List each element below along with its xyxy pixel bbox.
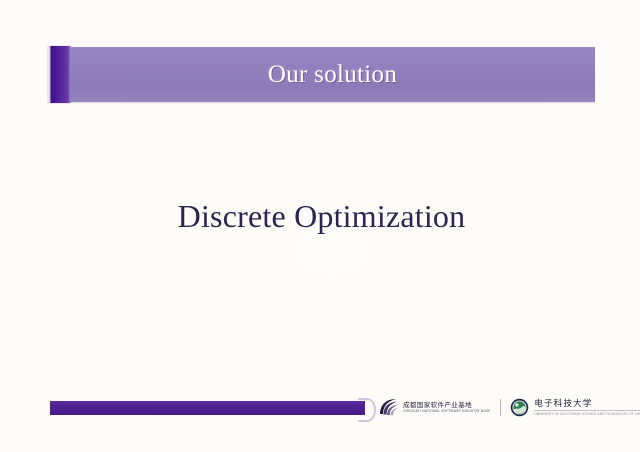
- footer-accent-bar: [50, 401, 365, 415]
- software-base-en: CHENGDU NATIONAL SOFTWARE INDUSTRY BASE: [403, 409, 490, 413]
- slide-body-text: Discrete Optimization: [48, 198, 595, 235]
- presentation-slide: Our solution Discrete Optimization 成都国家软…: [0, 0, 640, 452]
- uestc-cn: 电子科技大学: [534, 399, 640, 409]
- footer-bar-cap: [358, 398, 376, 422]
- slide-footer: 成都国家软件产业基地 CHENGDU NATIONAL SOFTWARE IND…: [0, 392, 640, 426]
- slide-title: Our solution: [70, 46, 595, 103]
- uestc-en: UNIVERSITY OF ELECTRONIC SCIENCE AND TEC…: [534, 410, 640, 416]
- logo-software-base: 成都国家软件产业基地 CHENGDU NATIONAL SOFTWARE IND…: [378, 395, 490, 419]
- uestc-seal-icon: [510, 398, 529, 417]
- slide-title-band: Our solution: [48, 46, 595, 103]
- slide-content-area: Discrete Optimization: [48, 120, 595, 380]
- logo-divider: [500, 399, 501, 416]
- logo-uestc: 电子科技大学 UNIVERSITY OF ELECTRONIC SCIENCE …: [510, 395, 640, 419]
- uestc-wordmark: 电子科技大学 UNIVERSITY OF ELECTRONIC SCIENCE …: [534, 399, 640, 416]
- footer-logo-strip: 成都国家软件产业基地 CHENGDU NATIONAL SOFTWARE IND…: [378, 392, 593, 422]
- software-base-wordmark: 成都国家软件产业基地 CHENGDU NATIONAL SOFTWARE IND…: [403, 398, 490, 416]
- swoosh-emblem-icon: [378, 397, 400, 417]
- title-accent-block: [48, 46, 71, 103]
- software-base-cn: 成都国家软件产业基地: [403, 402, 490, 409]
